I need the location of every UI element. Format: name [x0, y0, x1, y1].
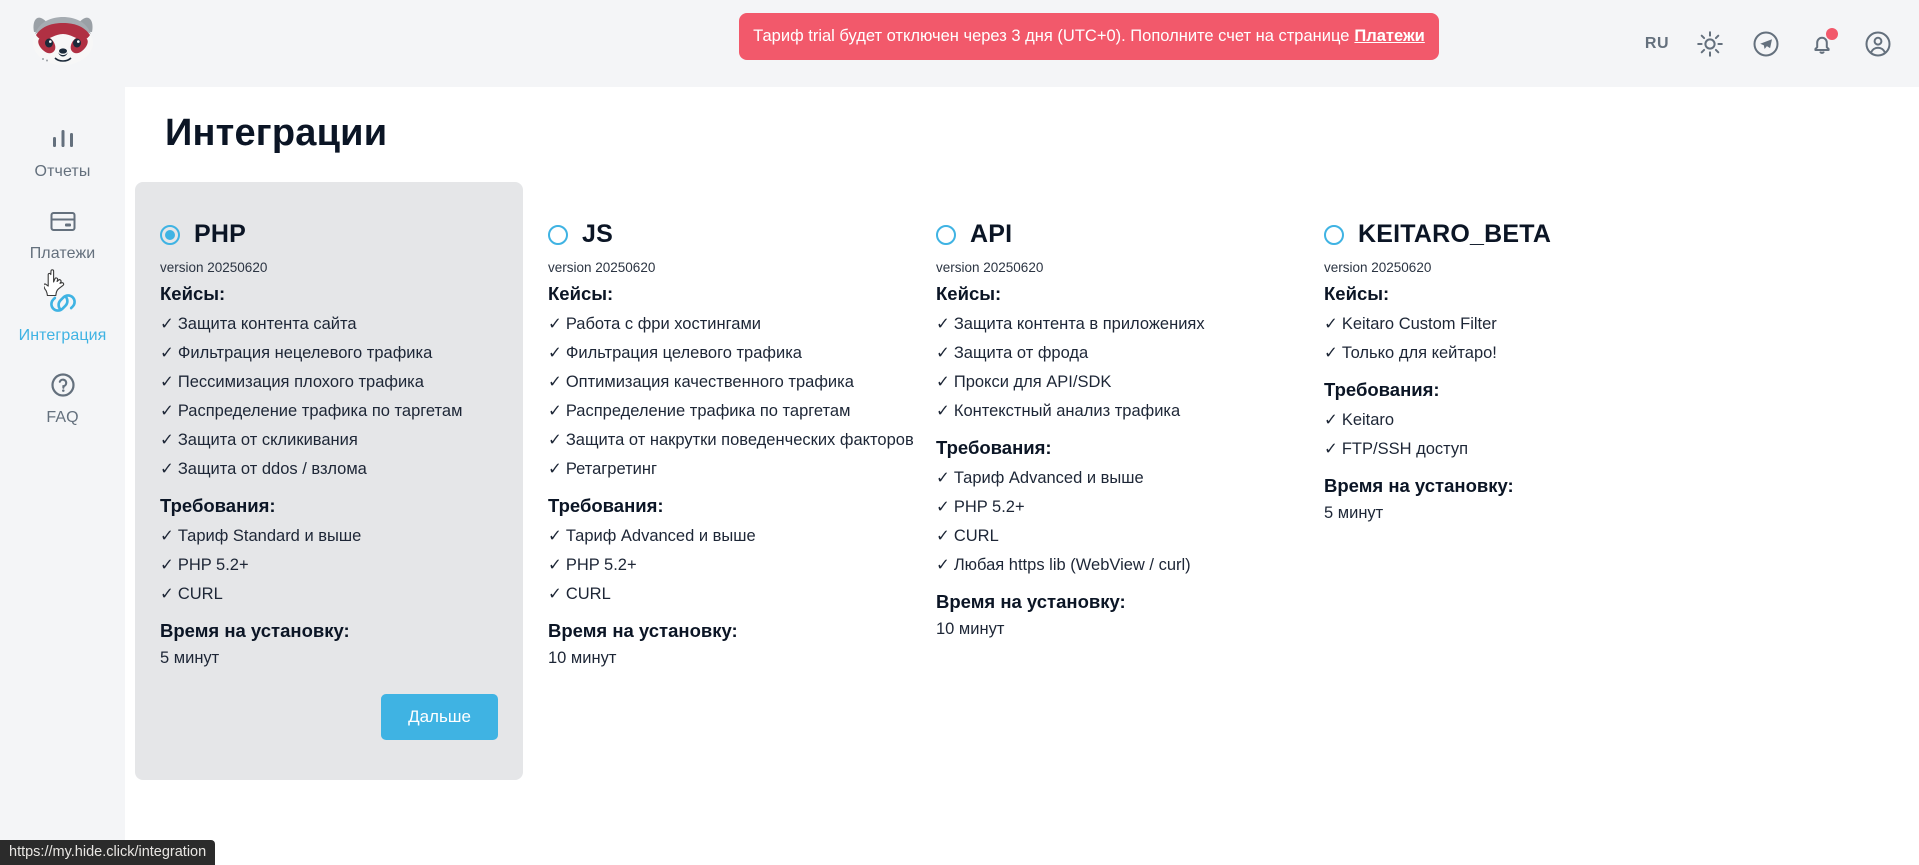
card-title: PHP [194, 220, 246, 249]
cases-heading: Кейсы: [160, 283, 498, 305]
trial-alert-banner[interactable]: Тариф trial будет отключен через 3 дня (… [739, 13, 1439, 60]
user-account-icon[interactable] [1863, 29, 1893, 59]
sidebar-item-faq[interactable]: FAQ [0, 356, 125, 438]
card-header: KEITARO_BETA [1324, 220, 1662, 249]
check-icon: ✓ [1324, 440, 1338, 458]
requirements-heading: Требования: [548, 495, 886, 517]
notifications-bell[interactable] [1807, 29, 1837, 59]
card-title: JS [582, 220, 613, 249]
card-header: JS [548, 220, 886, 249]
card-actions: Дальше [160, 668, 498, 740]
install-time-value: 5 минут [160, 649, 498, 668]
trial-alert-payments-link[interactable]: Платежи [1354, 27, 1424, 46]
check-icon: ✓ [548, 315, 562, 333]
check-icon: ✓ [548, 460, 562, 478]
install-time-heading: Время на установку: [1324, 475, 1662, 497]
case-item: ✓Ретагретинг [548, 457, 886, 481]
install-time-heading: Время на установку: [160, 620, 498, 642]
topbar-actions: RU [1645, 0, 1893, 87]
check-icon: ✓ [936, 344, 950, 362]
check-icon: ✓ [936, 498, 950, 516]
question-circle-icon [46, 368, 80, 402]
next-button[interactable]: Дальше [381, 694, 498, 740]
requirement-item: ✓CURL [936, 524, 1274, 548]
card-version: version 20250620 [936, 260, 1274, 275]
case-item: ✓Фильтрация целевого трафика [548, 341, 886, 365]
integration-card-api[interactable]: API version 20250620 Кейсы: ✓Защита конт… [911, 182, 1299, 780]
case-item: ✓Оптимизация качественного трафика [548, 370, 886, 394]
sidebar-item-label: FAQ [46, 409, 78, 427]
sidebar: Отчеты Платежи [0, 0, 125, 865]
requirement-item: ✓FTP/SSH доступ [1324, 437, 1662, 461]
case-item: ✓Фильтрация нецелевого трафика [160, 341, 498, 365]
topbar: Тариф trial будет отключен через 3 дня (… [125, 0, 1919, 87]
radio-api[interactable] [936, 225, 956, 245]
check-icon: ✓ [548, 431, 562, 449]
integration-card-keitaro-beta[interactable]: KEITARO_BETA version 20250620 Кейсы: ✓Ke… [1299, 182, 1687, 780]
card-header: API [936, 220, 1274, 249]
radio-js[interactable] [548, 225, 568, 245]
sidebar-nav: Отчеты Платежи [0, 110, 125, 438]
install-time-value: 5 минут [1324, 504, 1662, 523]
case-item: ✓Защита контента сайта [160, 312, 498, 336]
check-icon: ✓ [1324, 411, 1338, 429]
case-item: ✓Распределение трафика по таргетам [160, 399, 498, 423]
integration-card-php[interactable]: PHP version 20250620 Кейсы: ✓Защита конт… [135, 182, 523, 780]
trial-alert-text: Тариф trial будет отключен через 3 дня (… [753, 27, 1349, 46]
check-icon: ✓ [548, 344, 562, 362]
check-icon: ✓ [548, 527, 562, 545]
main-content: Интеграции PHP version 20250620 Кейсы: ✓… [125, 87, 1919, 865]
check-icon: ✓ [548, 402, 562, 420]
radio-php[interactable] [160, 225, 180, 245]
integration-cards: PHP version 20250620 Кейсы: ✓Защита конт… [135, 182, 1687, 780]
check-icon: ✓ [936, 402, 950, 420]
check-icon: ✓ [548, 373, 562, 391]
case-item: ✓Защита контента в приложениях [936, 312, 1274, 336]
status-bar-url: https://my.hide.click/integration [0, 840, 215, 865]
check-icon: ✓ [160, 527, 174, 545]
integration-card-js[interactable]: JS version 20250620 Кейсы: ✓Работа с фри… [523, 182, 911, 780]
case-item: ✓Пессимизация плохого трафика [160, 370, 498, 394]
case-item: ✓Keitaro Custom Filter [1324, 312, 1662, 336]
check-icon: ✓ [936, 469, 950, 487]
brightness-sun-icon[interactable] [1695, 29, 1725, 59]
link-icon [46, 286, 80, 320]
card-title: KEITARO_BETA [1358, 220, 1551, 249]
install-time-value: 10 минут [936, 620, 1274, 639]
requirement-item: ✓CURL [160, 582, 498, 606]
credit-card-icon [46, 204, 80, 238]
case-item: ✓Защита от фрода [936, 341, 1274, 365]
card-title: API [970, 220, 1012, 249]
install-time-heading: Время на установку: [548, 620, 886, 642]
check-icon: ✓ [936, 527, 950, 545]
language-switcher[interactable]: RU [1645, 35, 1669, 53]
requirement-item: ✓Тариф Standard и выше [160, 524, 498, 548]
card-version: version 20250620 [160, 260, 498, 275]
sidebar-item-payments[interactable]: Платежи [0, 192, 125, 274]
requirement-item: ✓PHP 5.2+ [160, 553, 498, 577]
sidebar-item-label: Отчеты [35, 163, 91, 181]
requirement-item: ✓Keitaro [1324, 408, 1662, 432]
requirement-item: ✓Тариф Advanced и выше [548, 524, 886, 548]
sidebar-item-reports[interactable]: Отчеты [0, 110, 125, 192]
card-version: version 20250620 [1324, 260, 1662, 275]
telegram-icon[interactable] [1751, 29, 1781, 59]
cases-heading: Кейсы: [1324, 283, 1662, 305]
check-icon: ✓ [1324, 344, 1338, 362]
requirement-item: ✓PHP 5.2+ [548, 553, 886, 577]
notification-badge-dot [1826, 28, 1838, 40]
sidebar-item-label: Платежи [30, 245, 96, 263]
check-icon: ✓ [160, 344, 174, 362]
check-icon: ✓ [160, 460, 174, 478]
case-item: ✓Защита от скликивания [160, 428, 498, 452]
requirements-heading: Требования: [1324, 379, 1662, 401]
check-icon: ✓ [160, 373, 174, 391]
install-time-value: 10 минут [548, 649, 886, 668]
check-icon: ✓ [160, 402, 174, 420]
check-icon: ✓ [936, 315, 950, 333]
check-icon: ✓ [160, 431, 174, 449]
case-item: ✓Защита от ddos / взлома [160, 457, 498, 481]
case-item: ✓Прокси для API/SDK [936, 370, 1274, 394]
check-icon: ✓ [936, 556, 950, 574]
check-icon: ✓ [160, 585, 174, 603]
requirements-heading: Требования: [936, 437, 1274, 459]
case-item: ✓Контекстный анализ трафика [936, 399, 1274, 423]
check-icon: ✓ [548, 585, 562, 603]
check-icon: ✓ [160, 556, 174, 574]
case-item: ✓Распределение трафика по таргетам [548, 399, 886, 423]
case-item: ✓Работа с фри хостингами [548, 312, 886, 336]
sidebar-item-integration[interactable]: Интеграция [0, 274, 125, 356]
case-item: ✓Только для кейтаро! [1324, 341, 1662, 365]
requirement-item: ✓CURL [548, 582, 886, 606]
cases-heading: Кейсы: [936, 283, 1274, 305]
app-root: Отчеты Платежи [0, 0, 1919, 865]
card-version: version 20250620 [548, 260, 886, 275]
bar-chart-icon [46, 122, 80, 156]
requirement-item: ✓Любая https lib (WebView / curl) [936, 553, 1274, 577]
requirement-item: ✓PHP 5.2+ [936, 495, 1274, 519]
cases-heading: Кейсы: [548, 283, 886, 305]
page-title: Интеграции [165, 112, 387, 155]
card-header: PHP [160, 220, 498, 249]
requirement-item: ✓Тариф Advanced и выше [936, 466, 1274, 490]
install-time-heading: Время на установку: [936, 591, 1274, 613]
sidebar-item-label: Интеграция [19, 327, 107, 345]
case-item: ✓Защита от накрутки поведенческих фактор… [548, 428, 886, 452]
requirements-heading: Требования: [160, 495, 498, 517]
check-icon: ✓ [548, 556, 562, 574]
check-icon: ✓ [936, 373, 950, 391]
radio-keitaro-beta[interactable] [1324, 225, 1344, 245]
check-icon: ✓ [160, 315, 174, 333]
check-icon: ✓ [1324, 315, 1338, 333]
raccoon-logo[interactable] [28, 12, 98, 70]
